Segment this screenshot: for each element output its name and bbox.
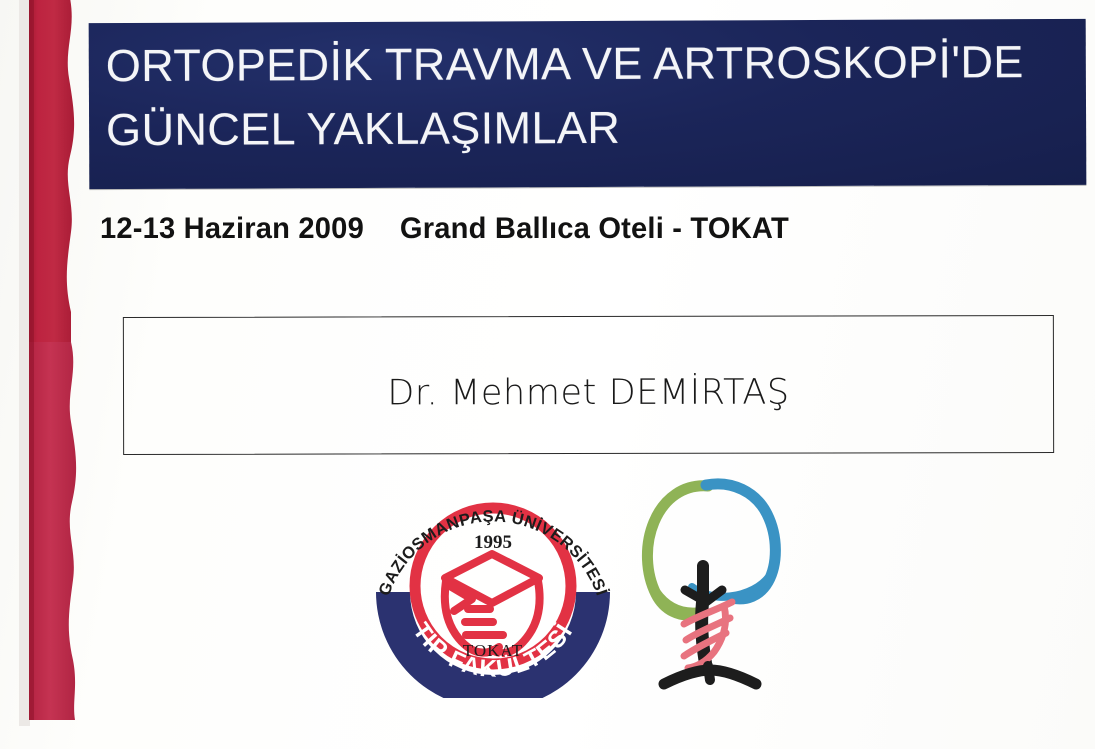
- title-banner-text-block: ORTOPEDİK TRAVMA VE ARTROSKOPİ'DE GÜNCEL…: [106, 30, 1077, 162]
- presenter-name: Dr. Mehmet DEMİRTAŞ: [124, 372, 1053, 414]
- event-venue: Grand Ballıca Oteli - TOKAT: [400, 212, 789, 245]
- seal-alt-faculty: TIP FAKÜLTESİ: [618, 466, 619, 467]
- seal-alt-university: GAZİOSMANPAŞA ÜNİVERSİTESİ: [618, 466, 619, 467]
- scanned-page: ORTOPEDİK TRAVMA VE ARTROSKOPİ'DE GÜNCEL…: [0, 0, 1095, 749]
- presenter-name-box: Dr. Mehmet DEMİRTAŞ: [123, 315, 1054, 455]
- title-banner: ORTOPEDİK TRAVMA VE ARTROSKOPİ'DE GÜNCEL…: [89, 19, 1087, 189]
- logo-strip: 1995 TOKAT GAZİOSMANPAŞA ÜNİVERSİTESİ TI…: [368, 462, 788, 702]
- university-seal-graphic: 1995 TOKAT GAZİOSMANPAŞA ÜNİVERSİTESİ TI…: [368, 466, 618, 698]
- seal-year-text: 1995: [474, 532, 512, 553]
- title-line-1: ORTOPEDİK TRAVMA VE ARTROSKOPİ'DE: [106, 30, 1076, 98]
- tree-figure-graphic: [640, 470, 788, 698]
- tree-figure-logo: [640, 470, 788, 698]
- gaziosmanpasa-university-seal-logo: 1995 TOKAT GAZİOSMANPAŞA ÜNİVERSİTESİ TI…: [368, 466, 618, 698]
- event-date-venue-line: 12-13 Haziran 2009 Grand Ballıca Oteli -…: [100, 212, 789, 246]
- seal-emblem-hands: [445, 554, 540, 653]
- title-line-2: GÜNCEL YAKLAŞIMLAR: [106, 94, 1076, 162]
- event-dates: 12-13 Haziran 2009: [100, 212, 364, 245]
- tree-figure-stem: [708, 666, 710, 680]
